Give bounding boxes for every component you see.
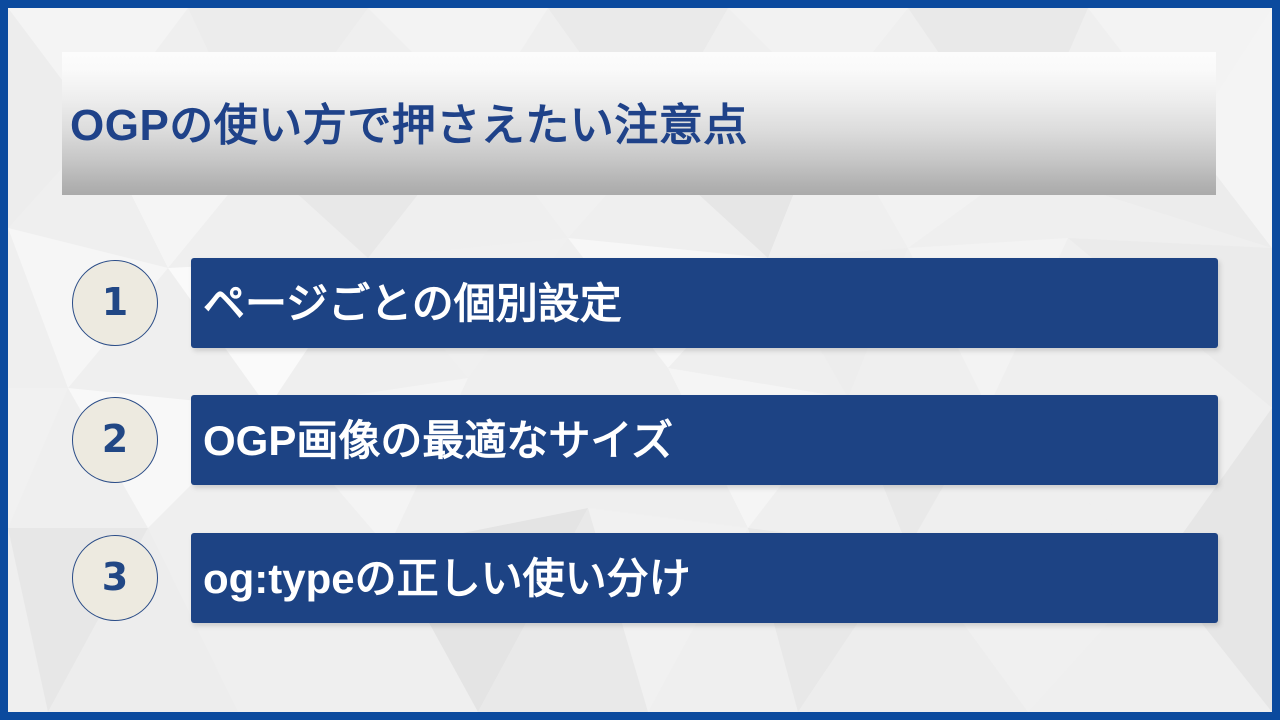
- item-number: 3: [102, 558, 128, 596]
- list-item[interactable]: 3 og:typeの正しい使い分け: [66, 533, 1218, 623]
- list-item[interactable]: 2 OGP画像の最適なサイズ: [66, 395, 1218, 485]
- item-label: ページごとの個別設定: [203, 283, 622, 325]
- item-label: og:typeの正しい使い分け: [203, 558, 691, 600]
- item-number-badge: 2: [72, 397, 158, 483]
- item-number-badge: 1: [72, 260, 158, 346]
- list-item[interactable]: 1 ページごとの個別設定: [66, 258, 1218, 348]
- slide: OGPの使い方で押さえたい注意点 1 ページごとの個別設定 2 OGP画像の最適…: [0, 0, 1280, 720]
- item-bar[interactable]: ページごとの個別設定: [191, 258, 1218, 348]
- item-number: 2: [102, 420, 128, 458]
- page-title: OGPの使い方で押さえたい注意点: [70, 104, 748, 148]
- title-band: OGPの使い方で押さえたい注意点: [62, 52, 1216, 195]
- item-number: 1: [102, 283, 128, 321]
- item-number-badge: 3: [72, 535, 158, 621]
- item-label: OGP画像の最適なサイズ: [203, 420, 673, 462]
- item-bar[interactable]: OGP画像の最適なサイズ: [191, 395, 1218, 485]
- item-bar[interactable]: og:typeの正しい使い分け: [191, 533, 1218, 623]
